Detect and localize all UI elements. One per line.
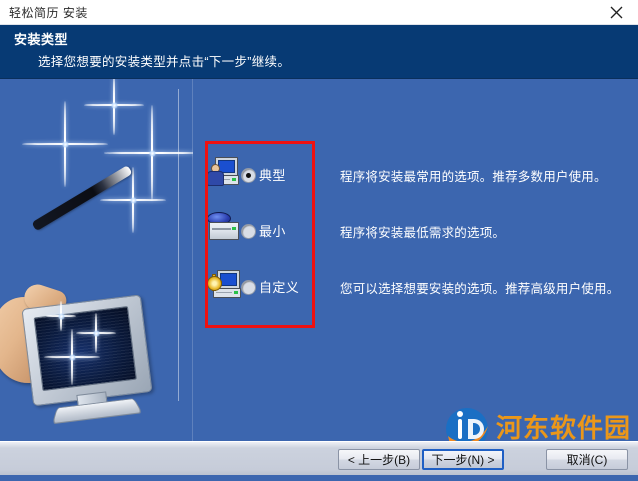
close-icon <box>610 6 623 19</box>
page-subtitle: 选择您想要的安装类型并点击“下一步”继续。 <box>38 51 290 70</box>
divider-line <box>192 79 193 441</box>
bottom-strip <box>0 475 638 481</box>
setup-option-label-typical[interactable]: 典型 <box>259 165 286 184</box>
radio-custom[interactable] <box>241 280 256 295</box>
divider-line <box>178 89 179 401</box>
setup-option-description-minimal: 程序将安装最低需求的选项。 <box>340 222 505 241</box>
title-bar: 轻松简历 安装 <box>0 0 638 25</box>
magic-wand-graphic <box>31 165 132 231</box>
back-button[interactable]: < 上一步(B) <box>338 449 420 470</box>
window-title: 轻松简历 安装 <box>9 4 88 21</box>
setup-option-label-custom[interactable]: 自定义 <box>259 277 299 296</box>
setup-option-description-typical: 程序将安装最常用的选项。推荐多数用户使用。 <box>340 166 607 185</box>
setup-option-label-minimal[interactable]: 最小 <box>259 221 286 240</box>
header-banner: 安装类型 选择您想要的安装类型并点击“下一步”继续。 <box>0 25 638 79</box>
cancel-button[interactable]: 取消(C) <box>546 449 628 470</box>
sparkle-icon <box>84 79 144 135</box>
close-button[interactable] <box>594 0 638 25</box>
radio-typical[interactable] <box>241 168 256 183</box>
wizard-body: 典型 程序将安装最常用的选项。推荐多数用户使用。 最小 程序将安装最低需求的选项… <box>0 79 638 441</box>
page-title: 安装类型 <box>14 29 68 48</box>
monitor-graphic <box>21 294 159 423</box>
sparkle-icon <box>22 101 108 187</box>
next-button[interactable]: 下一步(N) > <box>422 449 504 470</box>
computer-user-icon <box>206 155 238 187</box>
cd-drive-icon <box>206 211 238 243</box>
wizard-illustration <box>0 79 193 441</box>
computer-gear-icon <box>206 267 238 299</box>
installer-window: 轻松简历 安装 安装类型 选择您想要的安装类型并点击“下一步”继续。 <box>0 0 638 481</box>
setup-option-description-custom: 您可以选择想要安装的选项。推荐高级用户使用。 <box>340 278 619 297</box>
sparkle-icon <box>104 105 193 201</box>
button-bar: < 上一步(B) 下一步(N) > 取消(C) <box>0 441 638 476</box>
radio-minimal[interactable] <box>241 224 256 239</box>
